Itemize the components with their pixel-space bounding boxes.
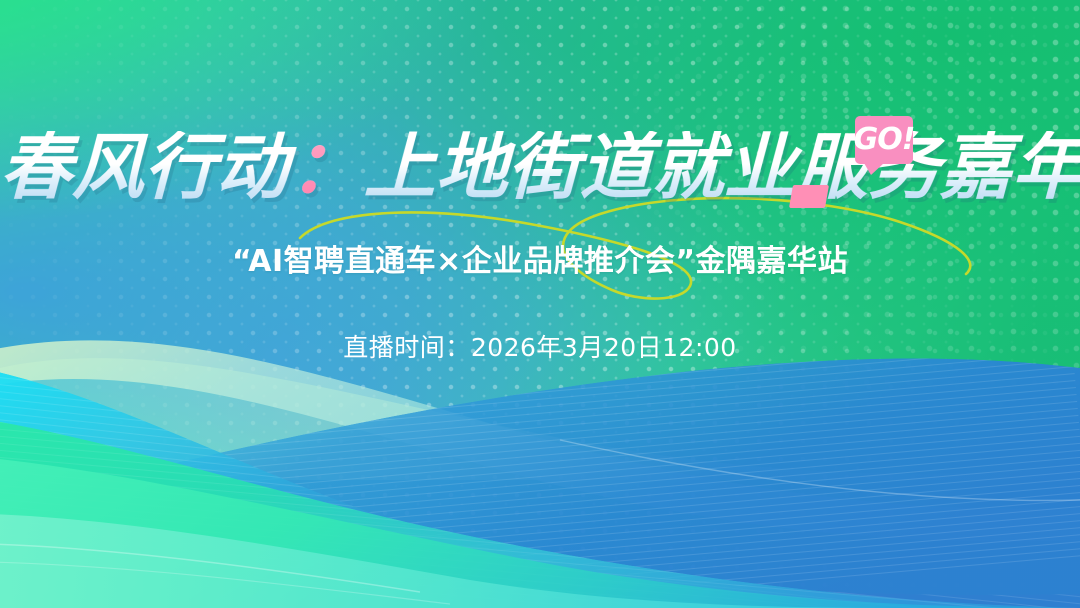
title-separator: ：: [287, 125, 364, 209]
subtitle: “AI智聘直通车×企业品牌推介会”金隅嘉华站: [0, 236, 1080, 280]
title-rest-text: 上地街道就业服务嘉年华: [363, 125, 1080, 209]
page-title: 春风行动：上地街道就业服务嘉年华: [0, 131, 1080, 203]
go-badge-tail: [864, 163, 884, 175]
main-title-row: 春风行动：上地街道就业服务嘉年华: [0, 131, 1080, 203]
datetime-label: 直播时间：: [343, 333, 471, 362]
go-badge: GO!: [855, 116, 913, 164]
pink-accent-block: [789, 185, 829, 208]
promo-banner: 春风行动：上地街道就业服务嘉年华 GO! “AI智聘直通车×企业品牌推介会”金隅…: [0, 0, 1080, 608]
title-main-text: 春风行动: [0, 125, 289, 209]
go-badge-label: GO!: [855, 116, 913, 164]
datetime-value: 2026年3月20日12:00: [471, 333, 737, 362]
poster-content: 春风行动：上地街道就业服务嘉年华 GO! “AI智聘直通车×企业品牌推介会”金隅…: [0, 0, 1080, 608]
broadcast-datetime: 直播时间：2026年3月20日12:00: [0, 328, 1080, 364]
